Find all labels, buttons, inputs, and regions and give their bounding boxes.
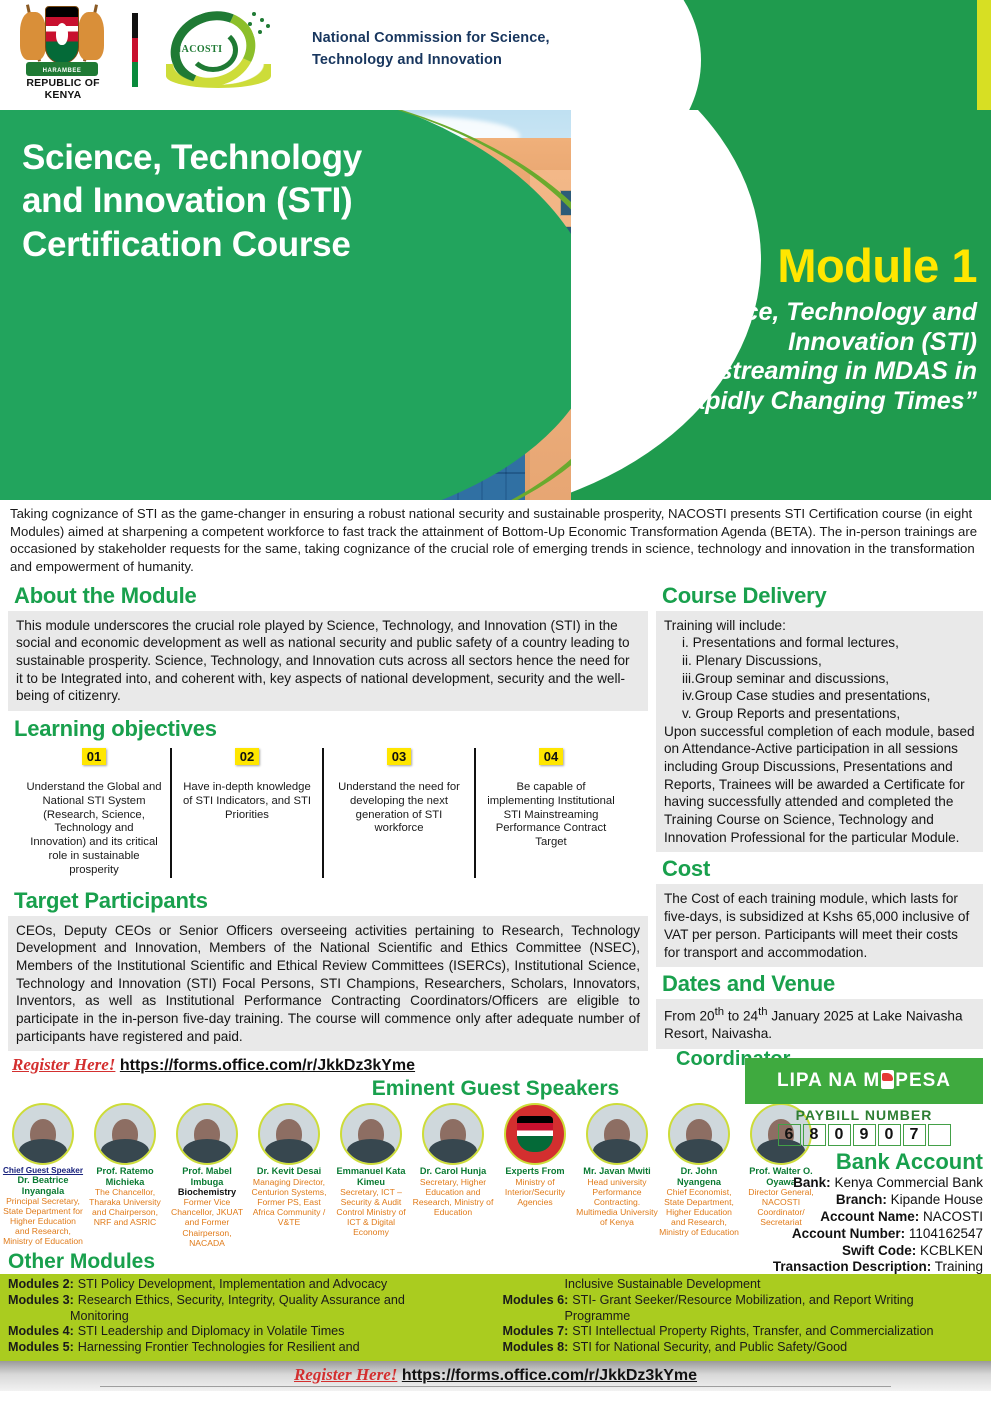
speaker-card: Dr. Carol Hunja Secretary, Higher Educat… — [412, 1103, 494, 1217]
header-green-swoop — [571, 0, 991, 110]
bank-row-value: 1104162547 — [909, 1226, 983, 1241]
left-column: About the Module This module underscores… — [8, 578, 648, 1052]
speaker-name: Dr. Beatrice Inyangala — [2, 1175, 84, 1196]
republic-label: REPUBLIC OF KENYA — [8, 77, 118, 101]
org-line-2: Technology and Innovation — [312, 50, 550, 72]
paybill-number: 6 8 0 9 0 7 — [745, 1124, 983, 1146]
speaker-card: Experts From Ministry of Interior/Securi… — [494, 1103, 576, 1207]
module-text: STI- Grant Seeker/Resource Mobilization,… — [572, 1293, 913, 1309]
speaker-card: Dr. Kevit Desai Managing Director, Centu… — [248, 1103, 330, 1227]
speaker-card: Emmanuel Kata Kimeu Secretary, ICT – Sec… — [330, 1103, 412, 1237]
phone-icon — [881, 1070, 894, 1089]
speaker-card: Prof. Mabel Imbuga Biochemistry Former V… — [166, 1103, 248, 1248]
speaker-name: Emmanuel Kata Kimeu — [330, 1166, 412, 1187]
module-label: Modules 6: — [503, 1293, 569, 1309]
course-delivery-body: Training will include: i. Presentations … — [656, 611, 983, 853]
speaker-name: Experts From — [494, 1166, 576, 1176]
paybill-label: PAYBILL NUMBER — [745, 1107, 983, 1123]
module-label: Modules 4: — [8, 1324, 74, 1340]
bank-row-value: Training — [935, 1259, 983, 1274]
organization-name: National Commission for Science, Technol… — [312, 28, 550, 72]
course-delivery-intro: Training will include: — [664, 617, 975, 635]
dates-venue-heading: Dates and Venue — [662, 971, 983, 997]
module-continuation: Inclusive Sustainable Development — [503, 1277, 984, 1293]
register-url[interactable]: https://forms.office.com/r/JkkDz3kYme — [120, 1057, 415, 1074]
objective-text: Have in-depth knowledge of STI Indicator… — [180, 781, 314, 822]
course-delivery-item: iv.Group Case studies and presentations, — [682, 687, 975, 705]
kenya-coat-of-arms-icon: HARAMBEE REPUBLIC OF KENYA — [8, 4, 118, 96]
mpesa-prefix: LIPA NA M — [777, 1070, 880, 1091]
dates-sup-1: th — [715, 1006, 724, 1018]
bank-row-label: Transaction Description: — [773, 1259, 931, 1274]
module-row: Modules 2:STI Policy Development, Implem… — [8, 1277, 489, 1293]
module-row: Modules 7:STI Intellectual Property Righ… — [503, 1324, 984, 1340]
nacosti-wordmark: NACOSTI — [174, 44, 222, 55]
course-delivery-item: i. Presentations and formal lectures, — [682, 634, 975, 652]
bank-row: Bank: Kenya Commercial Bank — [745, 1175, 983, 1192]
speaker-name: Mr. Javan Mwiti — [576, 1166, 658, 1176]
coat-motto: HARAMBEE — [43, 68, 82, 74]
speaker-name: Prof. Mabel Imbuga — [166, 1166, 248, 1187]
objective-number: 02 — [235, 748, 259, 765]
module-label: Modules 2: — [8, 1277, 74, 1293]
speaker-name: Prof. Ratemo Michieka — [84, 1166, 166, 1187]
header-yellow-strip — [977, 0, 991, 110]
speaker-name: Dr. Carol Hunja — [412, 1166, 494, 1176]
poster-root: HARAMBEE REPUBLIC OF KENYA NACOSTI Natio… — [0, 0, 991, 1403]
header-branding: HARAMBEE REPUBLIC OF KENYA NACOSTI Natio… — [8, 4, 550, 96]
bank-row-label: Branch: — [836, 1192, 887, 1207]
target-participants-body: CEOs, Deputy CEOs or Senior Officers ove… — [8, 916, 648, 1052]
objective-item: 01 Understand the Global and National ST… — [18, 748, 170, 877]
dates-sup-2: th — [758, 1006, 767, 1018]
payment-panel: LIPA NA MPESA PAYBILL NUMBER 6 8 0 9 0 7… — [745, 1058, 983, 1276]
paybill-digit: 0 — [878, 1124, 901, 1146]
module-continuation: Programme — [503, 1309, 984, 1325]
avatar-icon — [422, 1103, 484, 1165]
nacosti-logo-icon: NACOSTI — [152, 4, 302, 96]
module-row: Modules 4:STI Leadership and Diplomacy i… — [8, 1324, 489, 1340]
other-modules-col-right: Inclusive Sustainable Development Module… — [503, 1277, 984, 1356]
module-text: STI Intellectual Property Rights, Transf… — [572, 1324, 933, 1340]
learning-objectives-list: 01 Understand the Global and National ST… — [18, 748, 648, 877]
module-row: Modules 8:STI for National Security, and… — [503, 1340, 984, 1356]
module-row: Modules 3:Research Ethics, Security, Int… — [8, 1293, 489, 1309]
objective-number: 01 — [82, 748, 106, 765]
objective-number: 04 — [539, 748, 563, 765]
module-row: Modules 6:STI- Grant Seeker/Resource Mob… — [503, 1293, 984, 1309]
cost-heading: Cost — [662, 856, 983, 882]
speaker-subject: Biochemistry — [166, 1187, 248, 1197]
bank-row-value: Kenya Commercial Bank — [834, 1175, 983, 1190]
paybill-digit: 8 — [803, 1124, 826, 1146]
speaker-role: Chief Economist, State Department, Highe… — [658, 1187, 740, 1238]
other-modules-col-left: Modules 2:STI Policy Development, Implem… — [8, 1277, 489, 1356]
about-body: This module underscores the crucial role… — [8, 611, 648, 711]
module-text: STI Policy Development, Implementation a… — [78, 1277, 387, 1293]
kenya-coat-of-arms-icon — [504, 1103, 566, 1165]
speaker-role: Principal Secretary, State Department fo… — [2, 1196, 84, 1247]
register-link-bottom[interactable]: Register Here! https://forms.office.com/… — [0, 1365, 991, 1385]
footer-divider — [100, 1386, 891, 1387]
course-delivery-outro: Upon successful completion of each modul… — [664, 723, 975, 847]
speaker-role: Former Vice Chancellor, JKUAT and Former… — [166, 1197, 248, 1248]
speaker-role: Ministry of Interior/Security Agencies — [494, 1177, 576, 1207]
module-number: Module 1 — [647, 238, 977, 293]
module-text: Harnessing Frontier Technologies for Res… — [78, 1340, 360, 1356]
register-url[interactable]: https://forms.office.com/r/JkkDz3kYme — [402, 1367, 697, 1384]
avatar-icon — [176, 1103, 238, 1165]
course-delivery-item: ii. Plenary Discussions, — [682, 652, 975, 670]
bank-row-value: NACOSTI — [923, 1209, 983, 1224]
paybill-digit-empty — [928, 1124, 951, 1146]
page-footer: Register Here! https://forms.office.com/… — [0, 1359, 991, 1391]
course-delivery-item: iii.Group seminar and discussions, — [682, 670, 975, 688]
avatar-icon — [340, 1103, 402, 1165]
right-column: Course Delivery Training will include: i… — [648, 578, 983, 1052]
objective-number: 03 — [387, 748, 411, 765]
module-text: STI Leadership and Diplomacy in Volatile… — [78, 1324, 345, 1340]
lipa-na-mpesa-logo: LIPA NA MPESA — [745, 1058, 983, 1104]
avatar-icon — [586, 1103, 648, 1165]
objective-item: 04 Be capable of implementing Institutio… — [474, 748, 626, 877]
module-label: Modules 5: — [8, 1340, 74, 1356]
speaker-card: Dr. John Nyangena Chief Economist, State… — [658, 1103, 740, 1237]
speaker-card: Chief Guest Speaker Dr. Beatrice Inyanga… — [2, 1103, 84, 1246]
flag-divider-icon — [132, 13, 138, 87]
bank-row-value: KCBLKEN — [920, 1243, 983, 1258]
module-label: Modules 3: — [8, 1293, 74, 1309]
avatar-icon — [668, 1103, 730, 1165]
bank-row-label: Account Number: — [792, 1226, 905, 1241]
content-columns: About the Module This module underscores… — [0, 578, 991, 1052]
module-continuation: Monitoring — [8, 1309, 489, 1325]
speaker-card: Mr. Javan Mwiti Head university Performa… — [576, 1103, 658, 1227]
speaker-role: Secretary, ICT – Security & Audit Contro… — [330, 1187, 412, 1238]
speaker-name: Dr. Kevit Desai — [248, 1166, 330, 1176]
intro-paragraph: Taking cognizance of STI as the game-cha… — [0, 500, 991, 578]
paybill-digit: 6 — [778, 1124, 801, 1146]
module-label: Modules 8: — [503, 1340, 569, 1356]
bank-row: Transaction Description: Training — [745, 1259, 983, 1276]
bank-account-title: Bank Account — [745, 1149, 983, 1175]
speaker-card: Prof. Ratemo Michieka The Chancellor, Th… — [84, 1103, 166, 1227]
page-header: HARAMBEE REPUBLIC OF KENYA NACOSTI Natio… — [0, 0, 991, 110]
other-modules-band: Modules 2:STI Policy Development, Implem… — [0, 1274, 991, 1359]
avatar-icon — [12, 1103, 74, 1165]
bank-row: Account Name: NACOSTI — [745, 1209, 983, 1226]
module-quote: “Science, Technology and Innovation (STI… — [647, 298, 977, 416]
target-participants-heading: Target Participants — [14, 888, 648, 914]
bank-row: Swift Code: KCBLKEN — [745, 1243, 983, 1260]
module-label: Modules 7: — [503, 1324, 569, 1340]
bank-row: Branch: Kipande House — [745, 1192, 983, 1209]
page-title: Science, Technology and Innovation (STI)… — [22, 136, 422, 266]
objective-text: Understand the need for developing the n… — [332, 781, 466, 836]
speaker-tag: Chief Guest Speaker — [2, 1166, 84, 1175]
bank-row-value: Kipande House — [891, 1192, 983, 1207]
objective-item: 02 Have in-depth knowledge of STI Indica… — [170, 748, 322, 877]
objective-text: Understand the Global and National STI S… — [26, 781, 162, 877]
course-delivery-heading: Course Delivery — [662, 583, 983, 609]
paybill-digit: 0 — [828, 1124, 851, 1146]
paybill-digit: 9 — [853, 1124, 876, 1146]
learning-objectives-heading: Learning objectives — [14, 716, 648, 742]
objective-text: Be capable of implementing Institutional… — [484, 781, 618, 850]
bank-row-label: Swift Code: — [842, 1243, 916, 1258]
dates-mid: to 24 — [724, 1009, 758, 1024]
module-row: Modules 5:Harnessing Frontier Technologi… — [8, 1340, 489, 1356]
course-delivery-item: v. Group Reports and presentations, — [682, 705, 975, 723]
speaker-name: Dr. John Nyangena — [658, 1166, 740, 1187]
speaker-role: Head university Performance Contracting.… — [576, 1177, 658, 1228]
register-here-label: Register Here! — [294, 1365, 397, 1384]
mpesa-suffix: PESA — [895, 1070, 951, 1091]
speaker-role: Secretary, Higher Education and Research… — [412, 1177, 494, 1218]
bank-row-label: Account Name: — [820, 1209, 919, 1224]
speaker-role: The Chancellor, Tharaka University and C… — [84, 1187, 166, 1228]
module-text: Research Ethics, Security, Integrity, Qu… — [78, 1293, 405, 1309]
cost-body: The Cost of each training module, which … — [656, 884, 983, 967]
bank-row: Account Number: 1104162547 — [745, 1226, 983, 1243]
dates-prefix: From 20 — [664, 1009, 715, 1024]
org-line-1: National Commission for Science, — [312, 28, 550, 50]
register-here-label: Register Here! — [12, 1055, 115, 1074]
hero-banner: NACOSTI PLAZA Science, Technology and In… — [0, 110, 991, 500]
about-heading: About the Module — [14, 583, 648, 609]
speaker-role: Managing Director, Centurion Systems, Fo… — [248, 1177, 330, 1228]
avatar-icon — [94, 1103, 156, 1165]
bank-row-label: Bank: — [793, 1175, 831, 1190]
module-text: STI for National Security, and Public Sa… — [572, 1340, 847, 1356]
paybill-digit: 7 — [903, 1124, 926, 1146]
avatar-icon — [258, 1103, 320, 1165]
dates-venue-body: From 20th to 24th January 2025 at Lake N… — [656, 999, 983, 1049]
objective-item: 03 Understand the need for developing th… — [322, 748, 474, 877]
